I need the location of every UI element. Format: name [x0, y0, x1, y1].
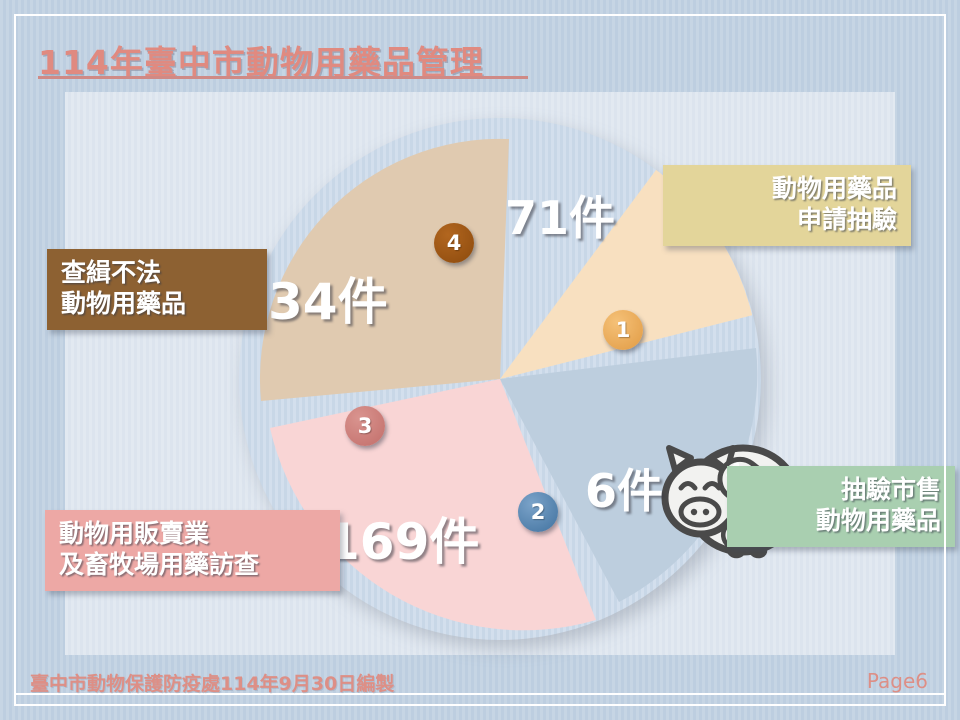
title-underline [38, 76, 528, 79]
callout-plate-4-line-1: 查緝不法 [61, 258, 253, 289]
callout-plate-1-line-1: 動物用藥品 [677, 174, 897, 205]
callout-plate-3-line-1: 動物用販賣業 [59, 519, 326, 550]
page-number: Page6 [867, 669, 928, 693]
segment-badge-2[interactable]: 2 [518, 492, 558, 532]
callout-plate-2[interactable]: 抽驗市售 動物用藥品 [727, 466, 955, 547]
segment-value-1: 71件 [505, 182, 615, 248]
callout-plate-4[interactable]: 查緝不法 動物用藥品 [47, 249, 267, 330]
segment-badge-1[interactable]: 1 [603, 310, 643, 350]
slide-canvas: 114年臺中市動物用藥品管理 [0, 0, 960, 720]
segment-badge-3[interactable]: 3 [345, 406, 385, 446]
callout-plate-2-line-2: 動物用藥品 [741, 506, 941, 537]
callout-plate-1[interactable]: 動物用藥品 申請抽驗 [663, 165, 911, 246]
callout-plate-3-line-2: 及畜牧場用藥訪查 [59, 550, 326, 581]
callout-plate-2-line-1: 抽驗市售 [741, 475, 941, 506]
segment-value-3: 169件 [325, 502, 479, 574]
callout-plate-3[interactable]: 動物用販賣業 及畜牧場用藥訪查 [45, 510, 340, 591]
segment-value-2: 6件 [585, 455, 663, 521]
callout-plate-4-line-2: 動物用藥品 [61, 289, 253, 320]
segment-badge-4[interactable]: 4 [434, 223, 474, 263]
callout-plate-1-line-2: 申請抽驗 [677, 205, 897, 236]
segment-value-4: 34件 [268, 262, 388, 334]
footer-note: 臺中市動物保護防疫處114年9月30日編製 [30, 669, 394, 696]
